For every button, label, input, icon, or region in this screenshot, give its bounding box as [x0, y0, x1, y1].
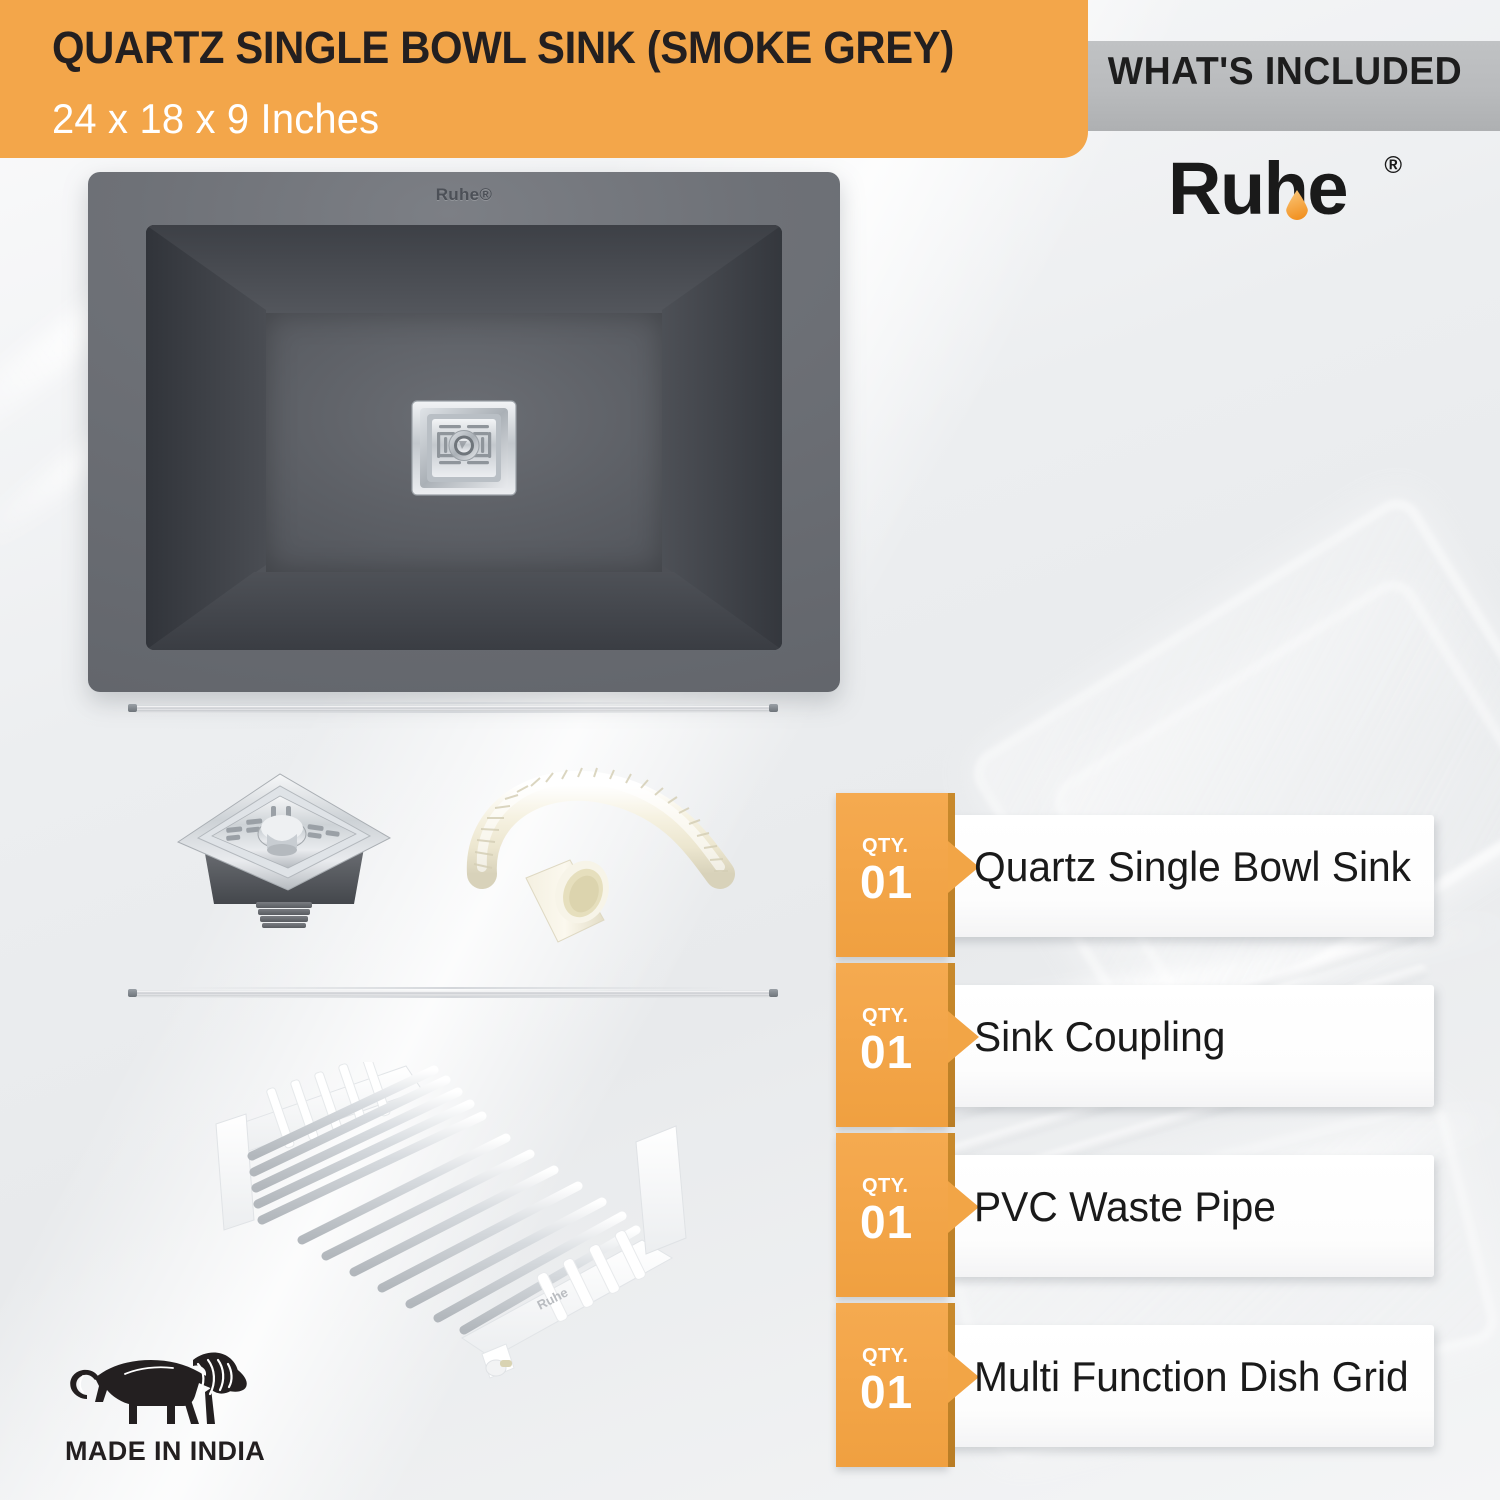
qty-tab: QTY. 01: [836, 1133, 948, 1297]
header-banner: QUARTZ SINGLE BOWL SINK (SMOKE GREY) 24 …: [0, 0, 1088, 158]
qty-value: 01: [860, 1195, 913, 1249]
basin-wall-bottom: [146, 572, 782, 650]
item-name: PVC Waste Pipe: [974, 1183, 1276, 1231]
made-in-india-label: MADE IN INDIA: [55, 1436, 305, 1467]
qty-tab: QTY. 01: [836, 1303, 948, 1467]
divider-end-cap: [769, 989, 778, 997]
included-items-list: QTY. 01 Quartz Single Bowl Sink QTY. 01 …: [836, 793, 1462, 1473]
divider-line: [176, 987, 730, 989]
item-name: Sink Coupling: [974, 1013, 1225, 1061]
section-divider: [128, 702, 778, 714]
dish-grid-image: Ruhe: [206, 1062, 718, 1380]
item-name: Quartz Single Bowl Sink: [974, 843, 1411, 891]
registered-trademark-icon: ®: [1384, 152, 1402, 180]
qty-value: 01: [860, 855, 913, 909]
section-divider: [128, 987, 778, 999]
sink-coupling-image: [168, 762, 400, 930]
sink-product-image: Ruhe®: [88, 172, 840, 692]
page-title: QUARTZ SINGLE BOWL SINK (SMOKE GREY): [52, 22, 954, 74]
divider-line: [176, 702, 730, 704]
square-drain-icon: [411, 400, 517, 496]
list-item[interactable]: QTY. 01 Sink Coupling: [836, 963, 1462, 1133]
list-item[interactable]: QTY. 01 PVC Waste Pipe: [836, 1133, 1462, 1303]
sink-rim-brand-label: Ruhe®: [88, 185, 840, 205]
divider-line: [136, 991, 770, 995]
brand-wordmark: Ruhe: [1168, 150, 1398, 228]
product-dimensions: 24 x 18 x 9 Inches: [52, 95, 379, 143]
brand-logo: Ruhe ®: [1168, 150, 1398, 228]
item-name: Multi Function Dish Grid: [974, 1353, 1409, 1401]
divider-line: [136, 706, 770, 710]
divider-end-cap: [128, 704, 137, 712]
qty-value: 01: [860, 1025, 913, 1079]
qty-value: 01: [860, 1365, 913, 1419]
qty-tab: QTY. 01: [836, 793, 948, 957]
divider-end-cap: [128, 989, 137, 997]
pvc-waste-pipe-image: [452, 752, 782, 952]
whats-included-title: WHAT'S INCLUDED: [1108, 50, 1462, 94]
made-in-india-badge: MADE IN INDIA: [55, 1340, 305, 1467]
qty-tab: QTY. 01: [836, 963, 948, 1127]
divider-line: [176, 711, 730, 713]
list-item[interactable]: QTY. 01 Multi Function Dish Grid: [836, 1303, 1462, 1473]
lion-icon: [65, 1340, 255, 1432]
infographic-canvas: QUARTZ SINGLE BOWL SINK (SMOKE GREY) 24 …: [0, 0, 1500, 1500]
list-item[interactable]: QTY. 01 Quartz Single Bowl Sink: [836, 793, 1462, 963]
divider-line: [176, 996, 730, 998]
divider-end-cap: [769, 704, 778, 712]
